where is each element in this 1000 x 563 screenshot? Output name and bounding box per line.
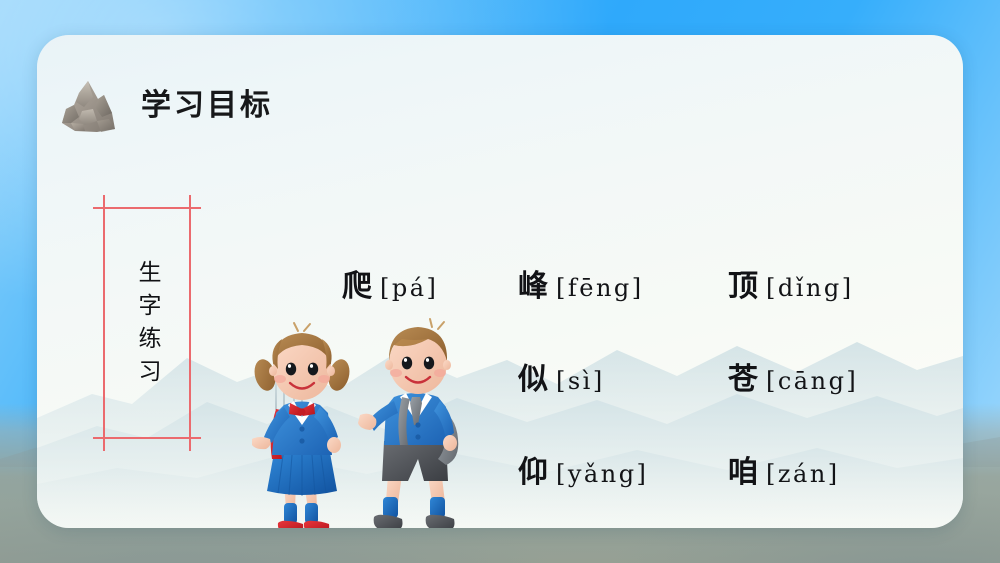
content-card: 学习目标 生字练习 <box>37 35 963 528</box>
hanzi: 爬 <box>342 272 372 302</box>
char-cell-r0c0[interactable]: 爬 [pá] <box>342 272 518 302</box>
hanzi: 苍 <box>728 365 758 395</box>
hanzi: 仰 <box>518 458 548 488</box>
hanzi: 似 <box>518 365 548 395</box>
char-cell-r2c1[interactable]: 仰 [yǎng] <box>518 458 728 488</box>
character-practice-grid: 爬 [pá] 峰 [fēng] 顶 [dǐng] 似 [sì] 苍 [cāng <box>342 240 942 519</box>
vertical-label-text: 生字练习 <box>103 207 191 439</box>
pinyin: [yǎng] <box>556 462 648 486</box>
pinyin: [zán] <box>766 462 840 486</box>
pinyin: [dǐng] <box>766 276 854 300</box>
slide-header: 学习目标 <box>57 77 273 135</box>
char-cell-r1c2[interactable]: 苍 [cāng] <box>728 365 918 395</box>
mountain-peak-icon <box>57 77 119 135</box>
char-cell-r2c2[interactable]: 咱 [zán] <box>728 458 918 488</box>
hanzi: 顶 <box>728 272 758 302</box>
pinyin: [sì] <box>556 369 605 393</box>
char-cell-r0c2[interactable]: 顶 [dǐng] <box>728 272 918 302</box>
pinyin: [cāng] <box>766 369 858 393</box>
hanzi: 峰 <box>518 272 548 302</box>
char-cell-r0c1[interactable]: 峰 [fēng] <box>518 272 728 302</box>
slide-canvas: 学习目标 生字练习 <box>0 0 1000 563</box>
pinyin: [fēng] <box>556 276 644 300</box>
hanzi: 咱 <box>728 458 758 488</box>
char-cell-r1c1[interactable]: 似 [sì] <box>518 365 728 395</box>
girl-figure <box>251 323 352 528</box>
vertical-label-box: 生字练习 <box>103 207 191 439</box>
pinyin: [pá] <box>380 276 438 300</box>
page-title: 学习目标 <box>141 91 273 121</box>
